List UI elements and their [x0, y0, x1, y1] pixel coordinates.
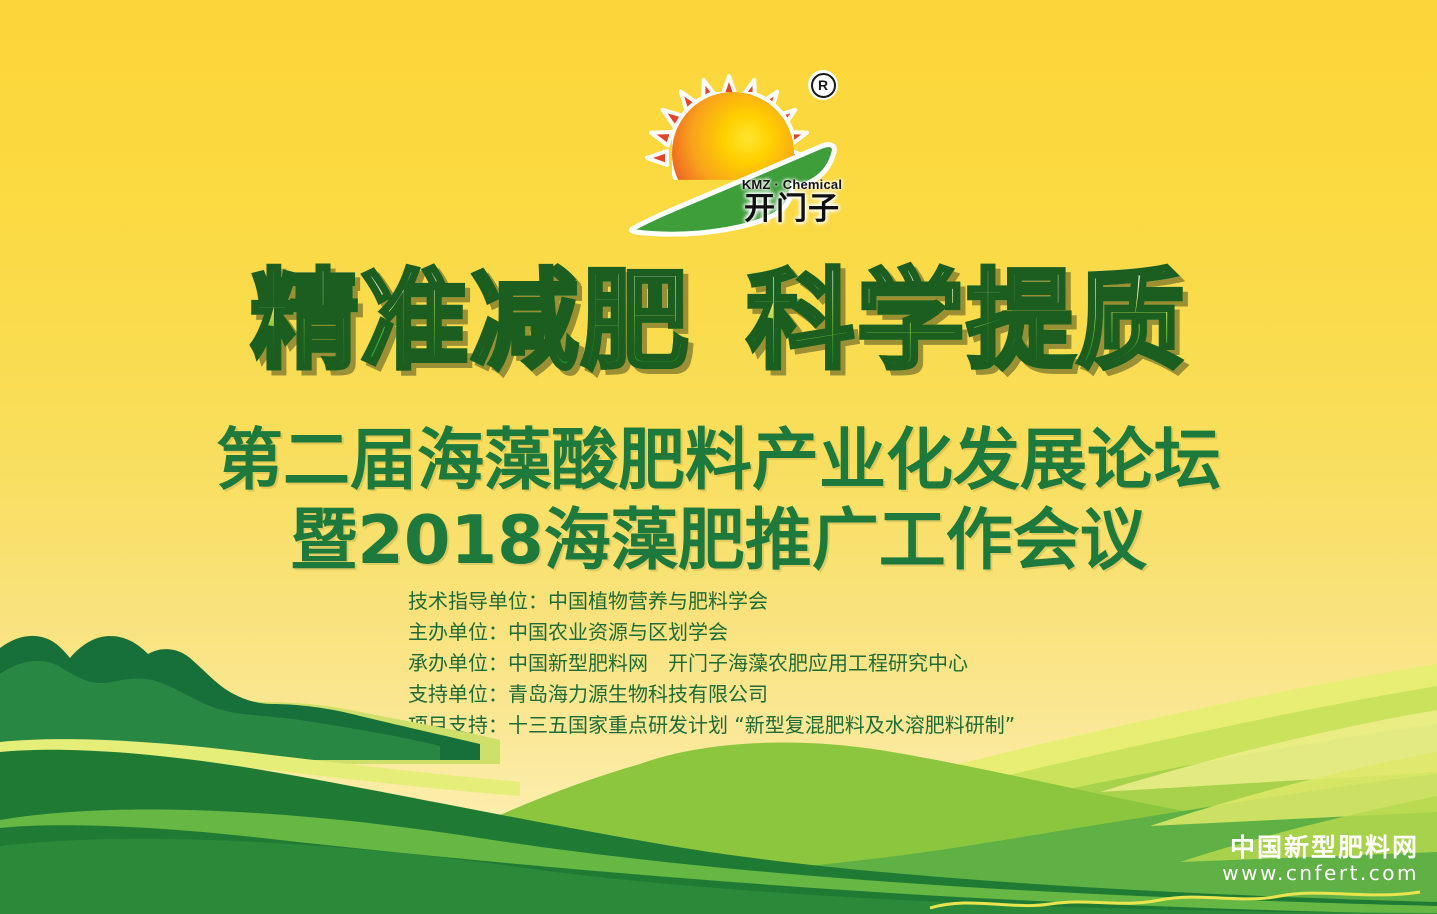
headline-part-1: 精准减肥 [250, 268, 690, 376]
logo-latin-text: KMZ · Chemical [738, 178, 846, 191]
headline-part-2: 科学提质 [747, 268, 1187, 376]
logo-chinese-text: 开门子 [738, 193, 846, 226]
logo-wordmark: KMZ · Chemical 开门子 [738, 178, 846, 226]
info-line-technical-guidance: 技术指导单位：中国植物营养与肥料学会 [408, 586, 1108, 617]
conference-poster: KMZ · Chemical 开门子 R 精准减肥科学提质 第二届海藻酸肥料产业… [0, 0, 1437, 914]
kmz-chemical-logo: KMZ · Chemical 开门子 R [626, 62, 846, 247]
conference-title-line-2: 暨2018海藻肥推广工作会议 [0, 486, 1437, 583]
registered-trademark-icon: R [808, 70, 838, 100]
site-watermark: 中国新型肥料网 www.cnfert.com [1222, 834, 1419, 887]
headline-slogan: 精准减肥科学提质 [0, 268, 1437, 376]
watermark-site-name: 中国新型肥料网 [1222, 834, 1419, 862]
watermark-url: www.cnfert.com [1222, 861, 1419, 886]
